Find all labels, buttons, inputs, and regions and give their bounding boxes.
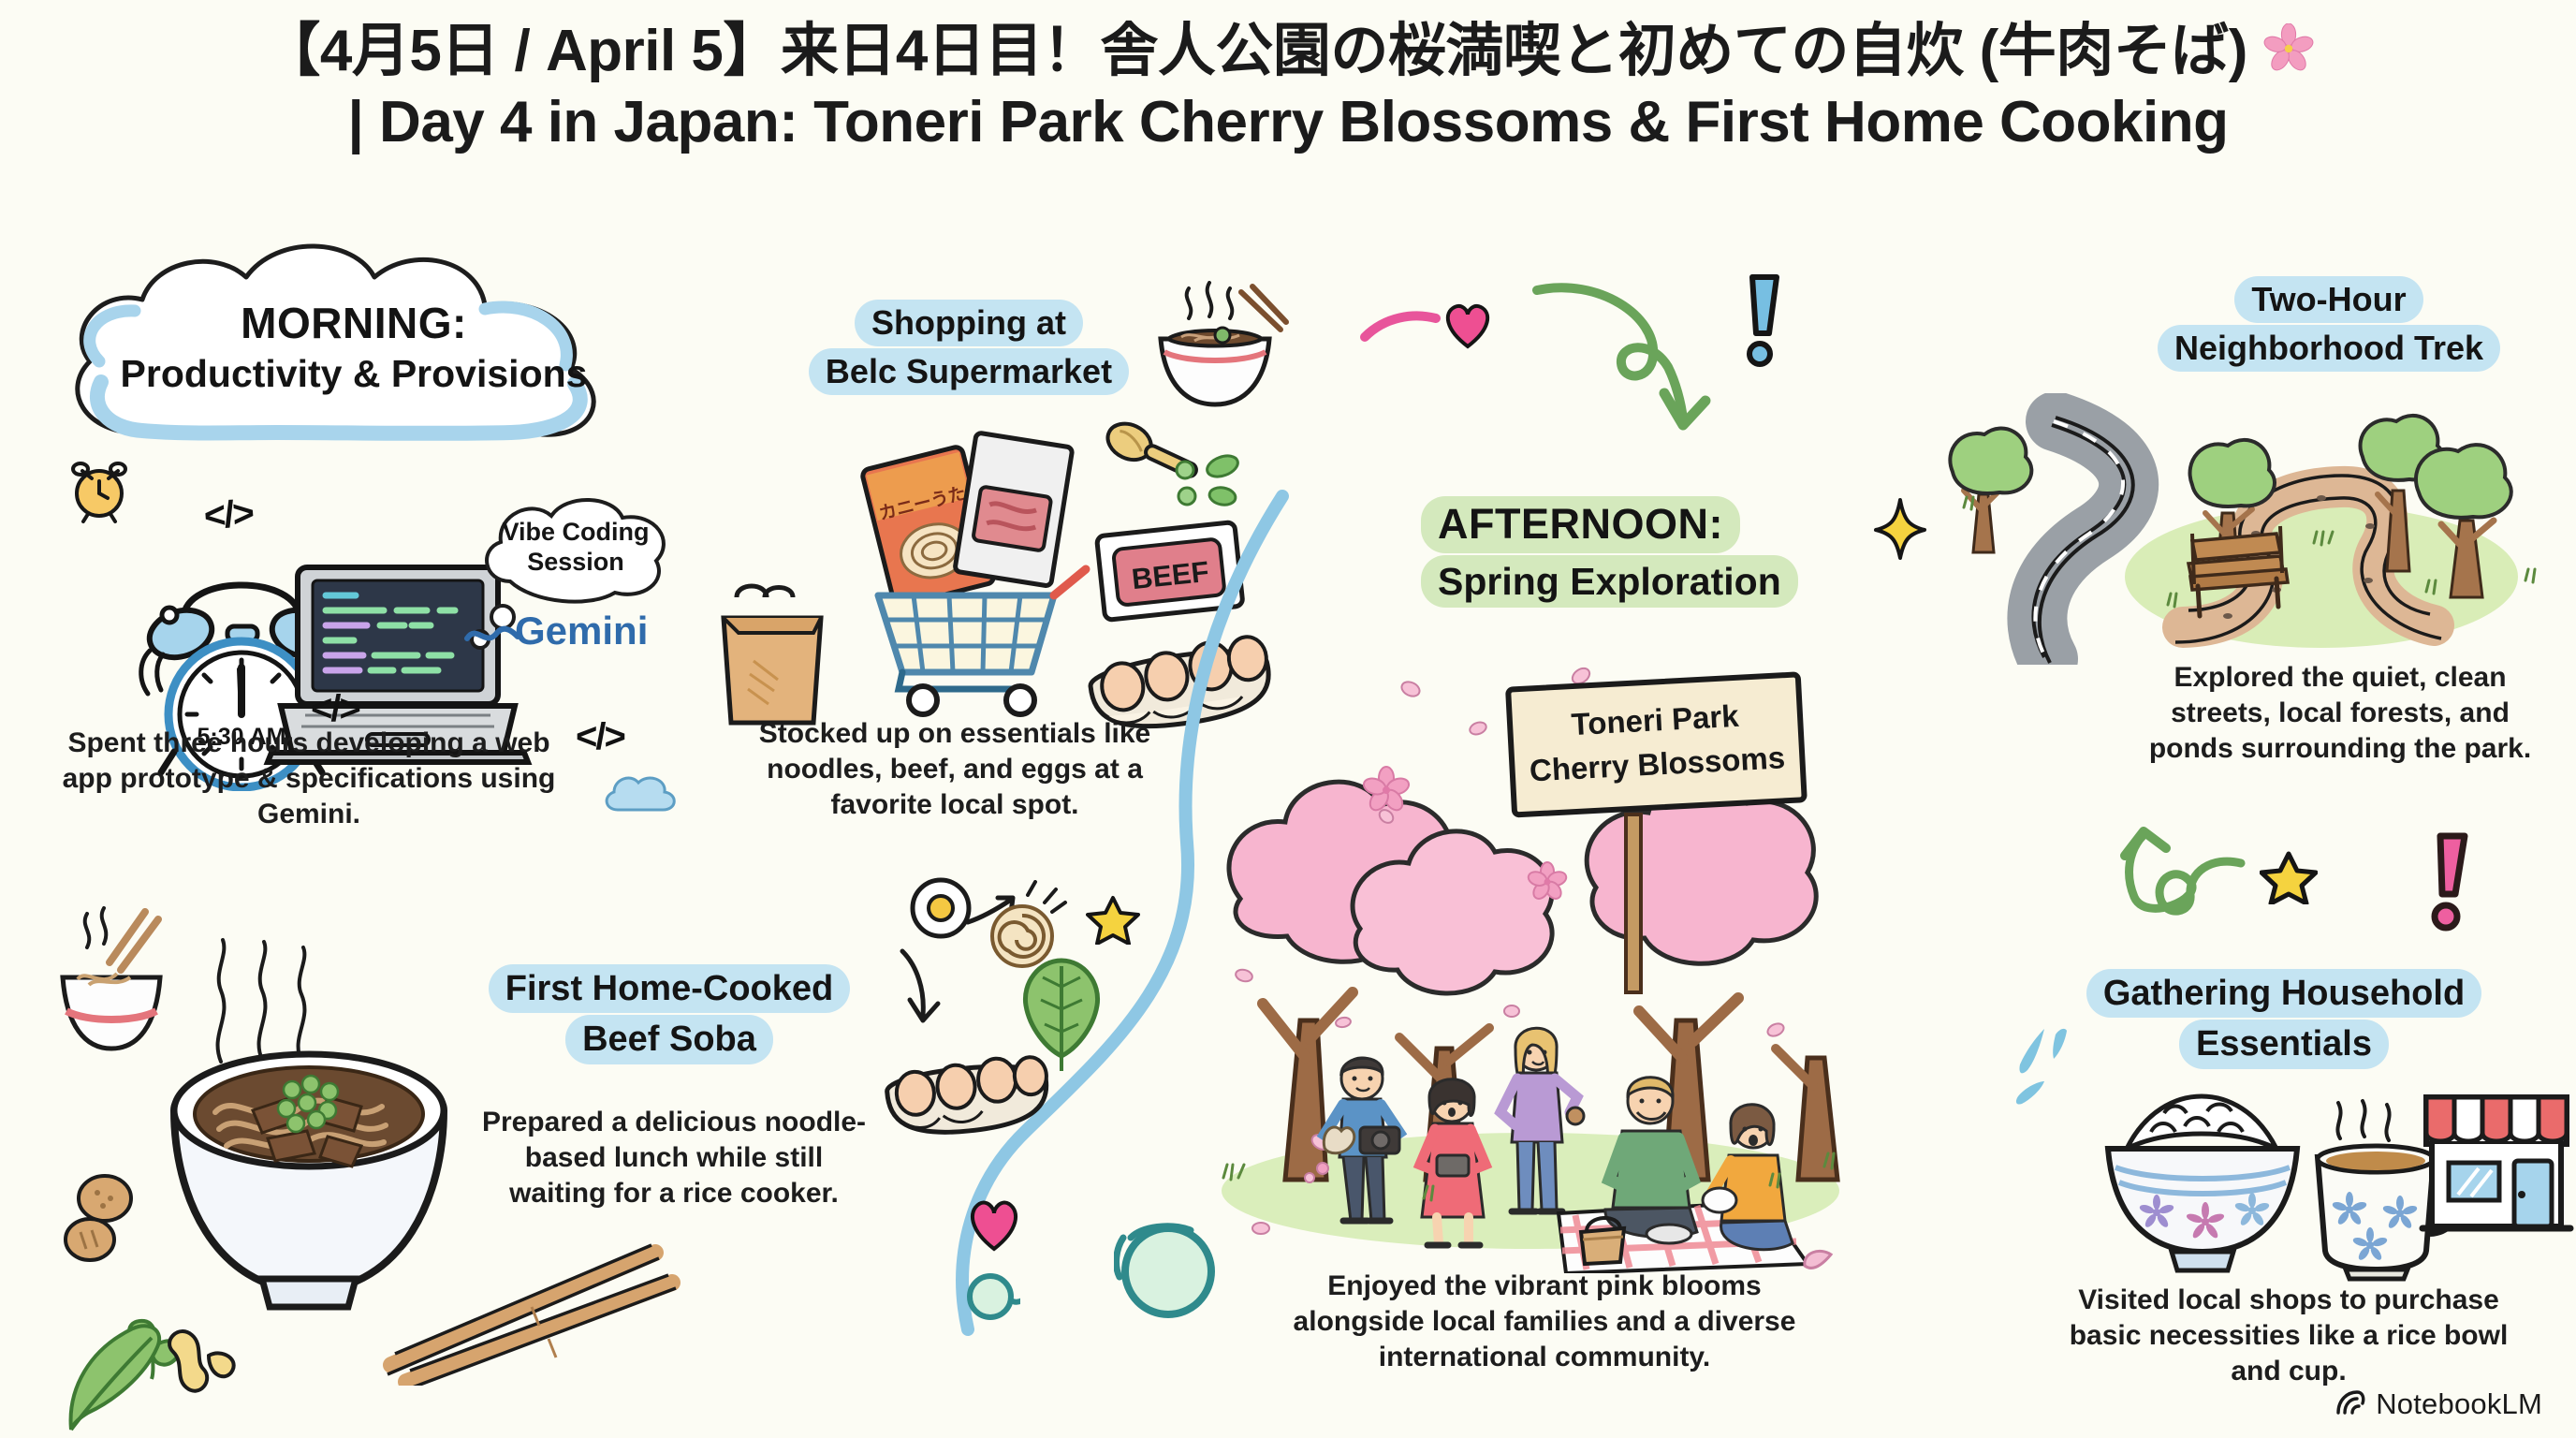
shopping-heading: Shopping at Belc Supermarket (782, 300, 1156, 395)
household-heading-line1: Gathering Household (2086, 969, 2481, 1018)
trek-heading: Two-Hour Neighborhood Trek (2132, 276, 2525, 372)
small-alarm-clock-icon (64, 454, 134, 529)
morning-subheading: Productivity & Provisions (45, 352, 663, 396)
code-tag-icon-2: </> (576, 716, 624, 758)
cherry-blossom-icon (2263, 29, 2314, 85)
cherry-blossom-park-scene: Toneri Park Cherry Blossoms (1203, 618, 1858, 1278)
household-body-text: Visited local shops to purchase basic ne… (2050, 1283, 2527, 1388)
arrow-down-icon (889, 946, 945, 1034)
morning-body-text: Spent three hours developing a web app p… (56, 726, 562, 831)
vibe-coding-label: Vibe Coding Session (473, 518, 679, 578)
morning-heading: MORNING: (45, 298, 663, 348)
storefront-icon (2417, 1086, 2576, 1250)
afternoon-heading-main: AFTERNOON: (1421, 496, 1740, 553)
household-heading-line2: Essentials (2179, 1020, 2389, 1068)
soba-heading-line1: First Home-Cooked (489, 964, 850, 1013)
vibe-line-1: Vibe Coding (502, 518, 649, 546)
vibe-line-2: Session (527, 548, 624, 576)
soba-heading-line2: Beef Soba (565, 1015, 773, 1064)
green-curved-arrow-icon (1526, 270, 1722, 443)
teal-bubble-large (1114, 1217, 1226, 1334)
sparkle-icon (1872, 496, 1928, 566)
shopping-heading-line2: Belc Supermarket (809, 348, 1129, 395)
rice-bowl-icon (2095, 1091, 2310, 1283)
blue-exclamation-icon (1734, 270, 1792, 377)
cherry-tree (1587, 777, 1816, 1180)
pink-exclamation-icon (2420, 829, 2478, 941)
afternoon-body-text: Enjoyed the vibrant pink blooms alongsid… (1282, 1269, 1807, 1374)
pink-heart-icon-2 (964, 1198, 1024, 1257)
yellow-star-icon (2260, 850, 2318, 909)
soba-body-text: Prepared a delicious noodle-based lunch … (477, 1105, 871, 1211)
page-title: 【4月5日 / April 5】来日4日目！舎人公園の桜満喫と初めての自炊 (牛… (0, 17, 2576, 156)
leafy-green-icon (54, 1315, 195, 1438)
chopsticks-icon (374, 1217, 683, 1390)
notebooklm-logo-icon (2334, 1388, 2366, 1421)
trek-heading-line1: Two-Hour (2234, 276, 2422, 323)
gemini-brand-label: Gemini (515, 609, 648, 653)
neighborhood-trek-scene (1947, 393, 2565, 669)
title-line-english: | Day 4 in Japan: Toneri Park Cherry Blo… (0, 88, 2576, 156)
morning-cloud-banner: MORNING: Productivity & Provisions (45, 242, 663, 476)
code-tag-icon-1: </> (202, 492, 254, 538)
notebooklm-watermark: NotebookLM (2334, 1387, 2542, 1421)
shopping-heading-line1: Shopping at (855, 300, 1083, 346)
blue-sparkle-marks (2014, 1025, 2089, 1123)
green-loop-arrow-icon (2080, 822, 2267, 958)
green-tree (1950, 429, 2031, 552)
afternoon-heading-sub: Spring Exploration (1421, 555, 1798, 608)
vibe-coding-thought-bubble: Vibe Coding Session (473, 492, 679, 613)
ramen-bowl-icon (1140, 281, 1290, 426)
infographic-canvas: 【4月5日 / April 5】来日4日目！舎人公園の桜満喫と初めての自炊 (牛… (0, 0, 2576, 1438)
petal-doodle (1799, 1245, 1838, 1282)
egg-carton-small-icon (876, 1034, 1057, 1153)
gemini-squiggle-icon (463, 620, 521, 656)
household-heading: Gathering Household Essentials (2059, 969, 2509, 1069)
soba-heading: First Home-Cooked Beef Soba (463, 964, 875, 1064)
notebooklm-label: NotebookLM (2376, 1387, 2542, 1421)
trek-body-text: Explored the quiet, clean streets, local… (2144, 660, 2537, 766)
trek-heading-line2: Neighborhood Trek (2158, 325, 2500, 372)
title-japanese-text: 【4月5日 / April 5】来日4日目！舎人公園の桜満喫と初めての自炊 (牛… (262, 19, 2247, 83)
cloud-puff-doodle (599, 768, 683, 829)
code-tag-icon-3: </> (311, 688, 359, 730)
afternoon-heading: AFTERNOON: Spring Exploration (1421, 496, 1861, 608)
mushroom-slices-icon (56, 1170, 159, 1287)
pink-stroke-doodle (1359, 309, 1443, 347)
pink-heart-icon (1442, 301, 1494, 355)
teal-bubble-small (964, 1269, 1020, 1329)
title-line-japanese: 【4月5日 / April 5】来日4日目！舎人公園の桜満喫と初めての自炊 (牛… (0, 17, 2576, 88)
yellow-star-small-icon (1086, 894, 1140, 949)
